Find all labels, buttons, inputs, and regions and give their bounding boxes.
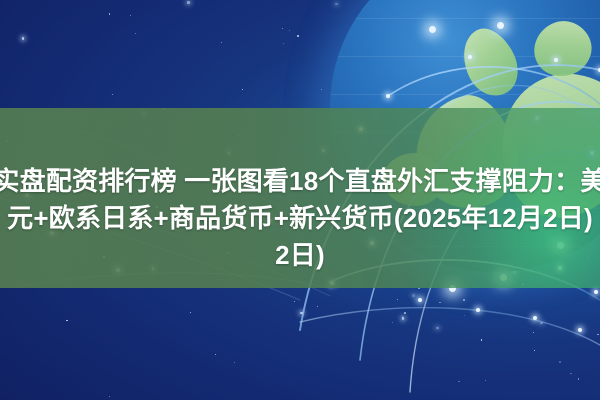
headline-line-3: 2日) [0,237,600,274]
page-title: 实盘配资排行榜 一张图看18个直盘外汇支撑阻力：美 元+欧系日系+商品货币+新兴… [0,163,600,274]
headline-line-2: 元+欧系日系+商品货币+新兴货币(2025年12月2日) [0,200,600,237]
thumbnail-canvas: 实盘配资排行榜 一张图看18个直盘外汇支撑阻力：美 元+欧系日系+商品货币+新兴… [0,0,600,400]
headline-line-1: 实盘配资排行榜 一张图看18个直盘外汇支撑阻力：美 [0,163,600,200]
